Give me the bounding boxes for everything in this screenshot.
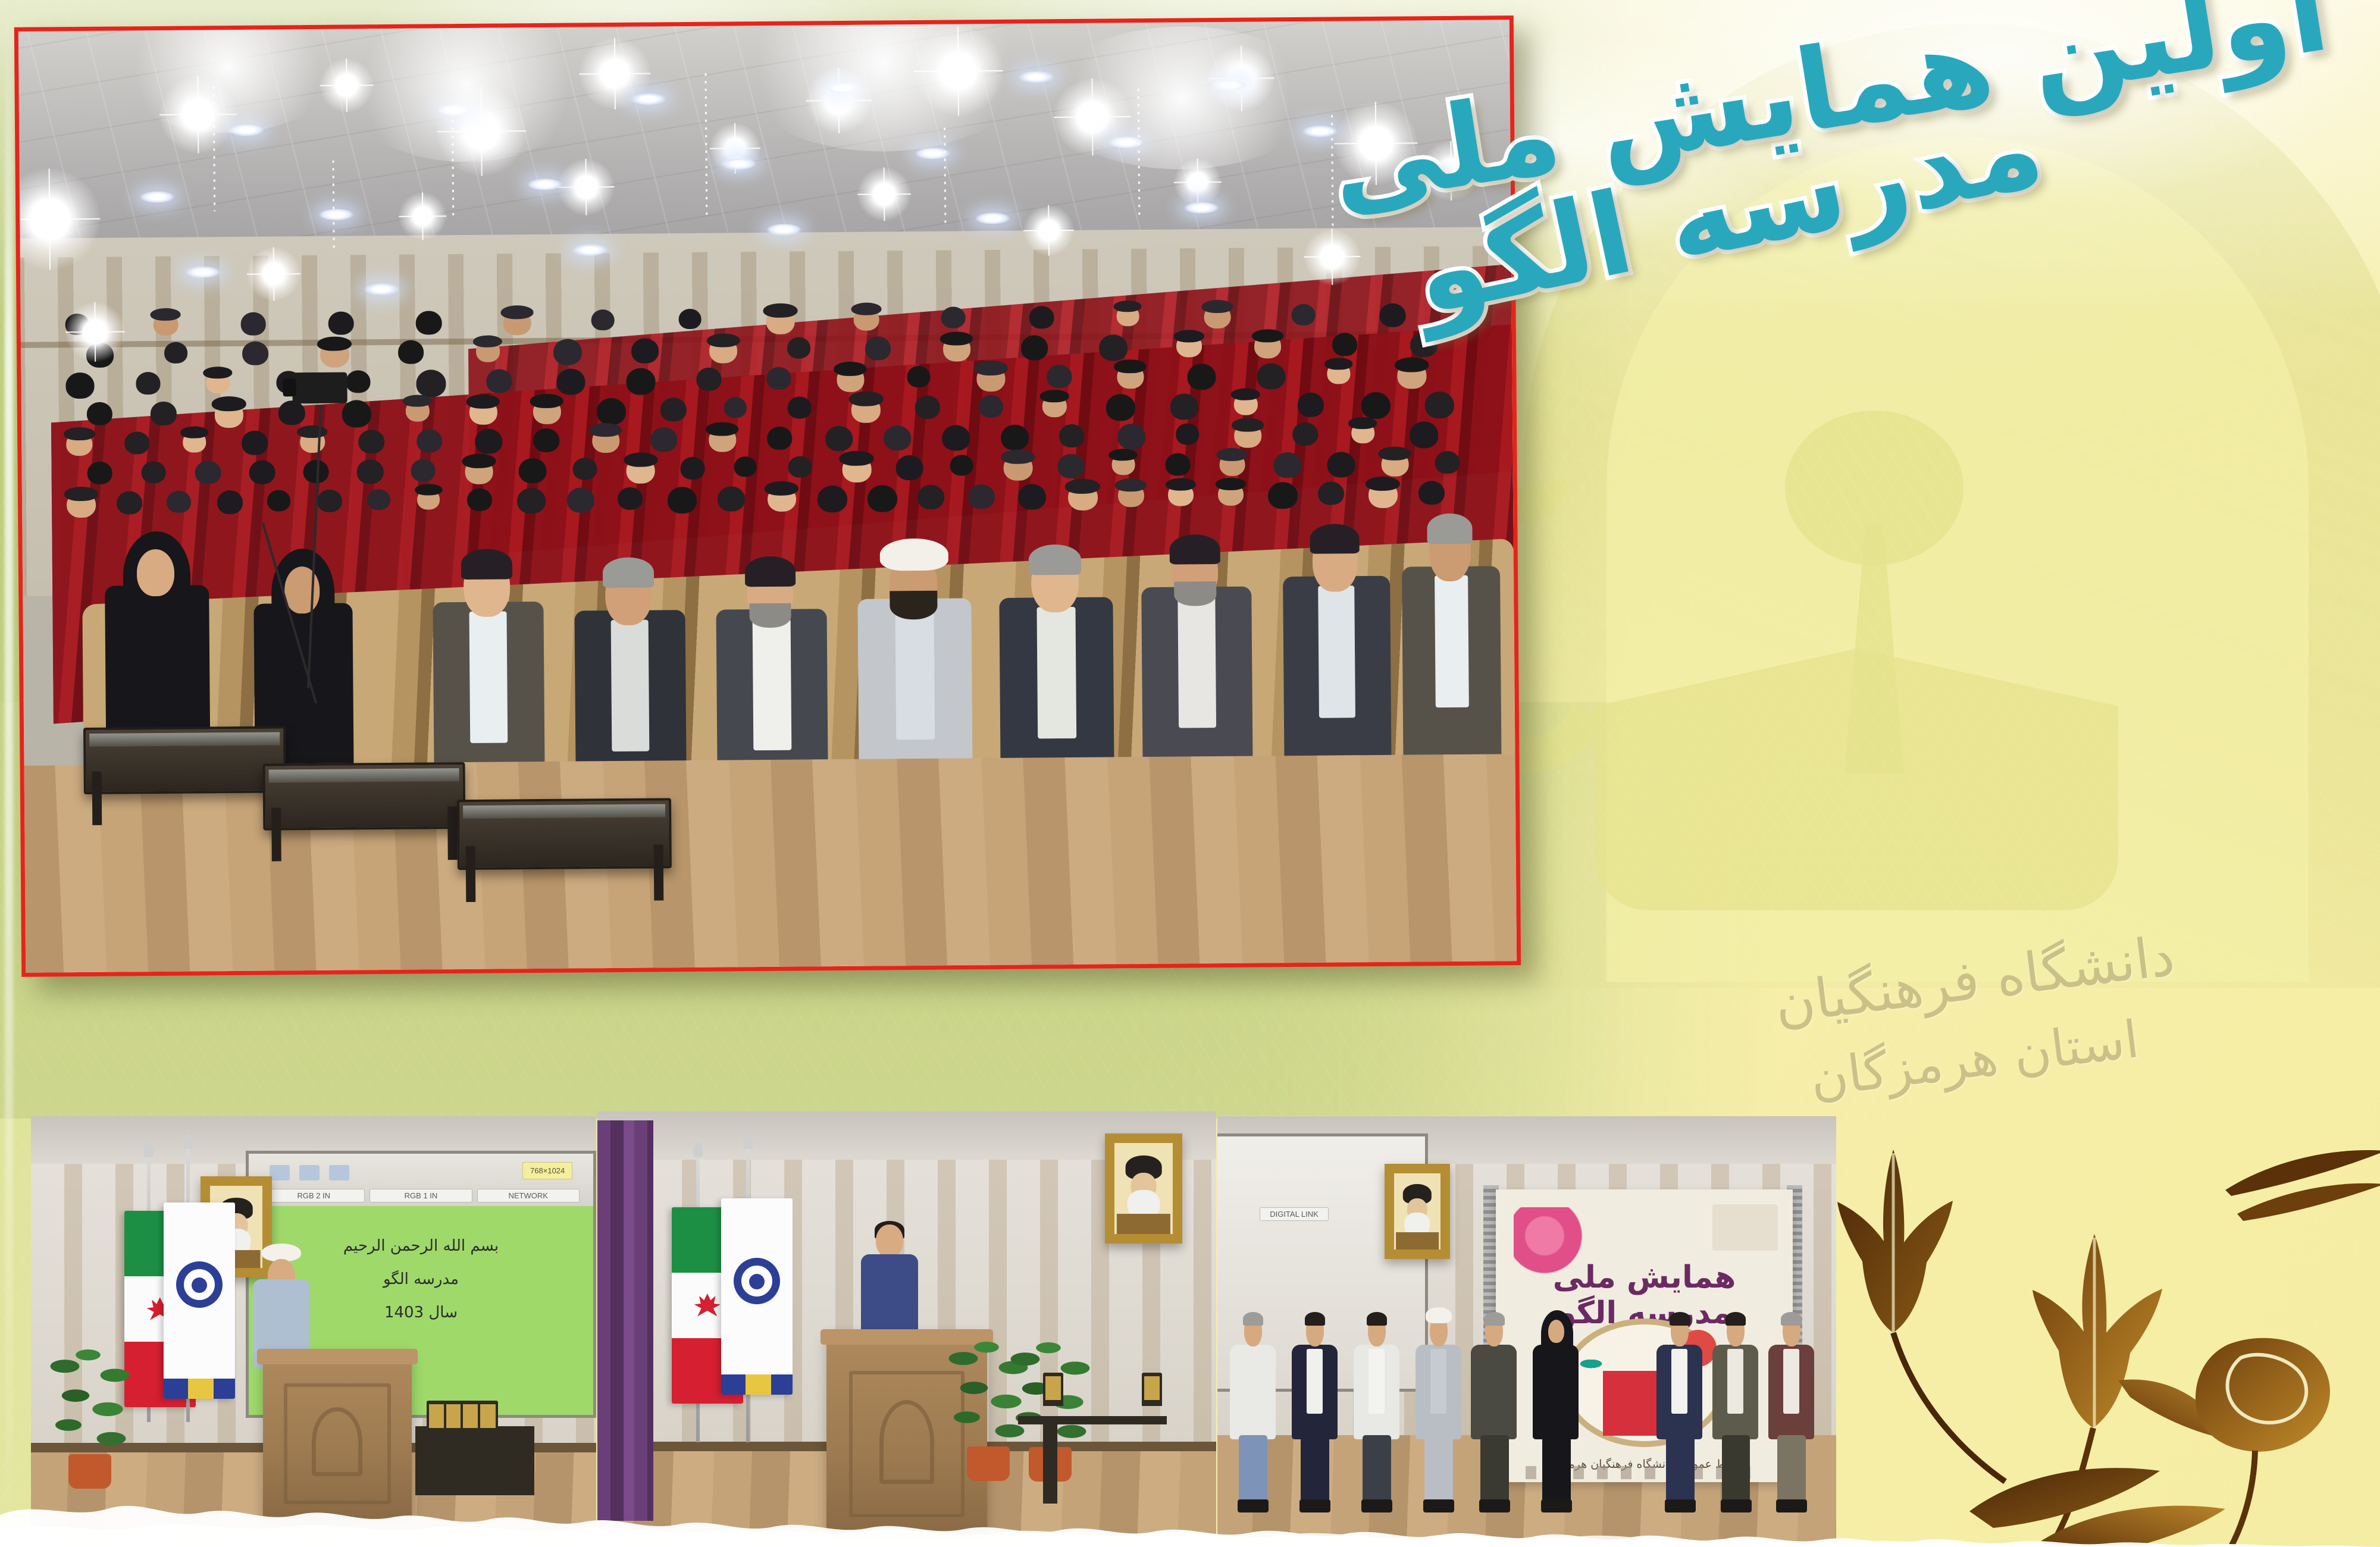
glass-coffee-table-2 xyxy=(262,762,465,831)
khamenei-portrait xyxy=(1385,1164,1450,1259)
award-table-1 xyxy=(415,1426,534,1495)
osd-tab-network: NETWORK xyxy=(477,1189,580,1202)
poster-canvas: اولین همایش ملی مدرسه الگو دانشگاه فرهنگ… xyxy=(0,0,2380,1547)
cleric-at-podium-photo: 1024×768 NETWORK RGB 1 IN RGB 2 IN بسم ا… xyxy=(31,1116,596,1547)
speaker-at-podium-photo xyxy=(597,1111,1216,1547)
glass-coffee-table-3 xyxy=(457,798,672,870)
khomeini-portrait-2 xyxy=(1105,1133,1182,1244)
podium-1 xyxy=(263,1349,412,1521)
award-table-2 xyxy=(1018,1416,1167,1424)
university-flag-2 xyxy=(721,1198,793,1395)
purple-curtain xyxy=(597,1120,653,1521)
auditorium-photo-image xyxy=(18,20,1517,973)
projector-osd: 1024×768 NETWORK RGB 1 IN RGB 2 IN xyxy=(249,1154,593,1206)
auditorium-photo-frame xyxy=(14,15,1521,977)
video-camera xyxy=(292,372,347,404)
projector-resolution: 1024×768 xyxy=(522,1162,572,1179)
osd-tab-rgb1: RGB 1 IN xyxy=(369,1189,472,1202)
potted-plant-1 xyxy=(42,1340,137,1489)
award-ceremony-group-photo: DIGITAL LINK همایش ملی مدرسه الگو روابط … xyxy=(1217,1116,1836,1547)
osd-tab-rgb2: RGB 2 IN xyxy=(262,1189,365,1202)
bottom-photo-strip: 1024×768 NETWORK RGB 1 IN RGB 2 IN بسم ا… xyxy=(0,1111,1839,1547)
glass-coffee-table-1 xyxy=(83,726,286,794)
university-flag-1 xyxy=(164,1202,235,1399)
